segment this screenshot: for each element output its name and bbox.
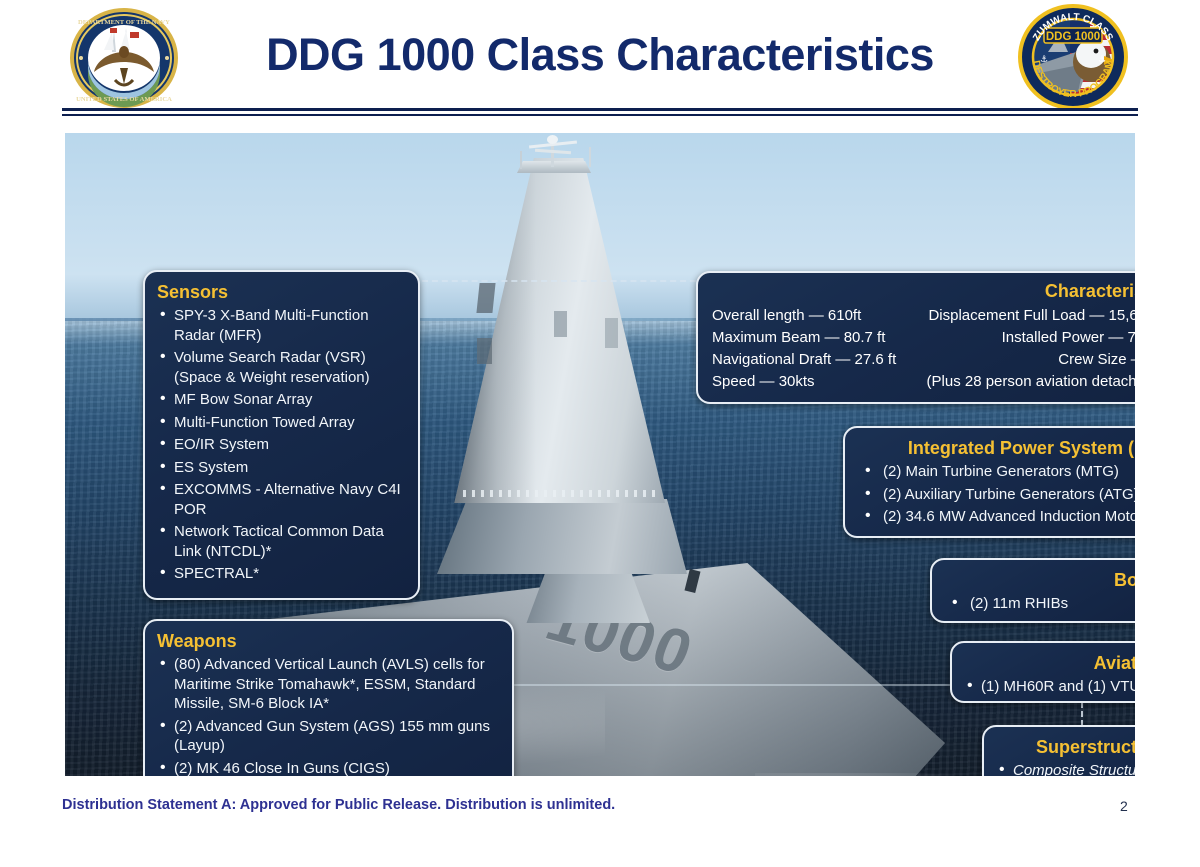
panel-superstructure-list: Composite Structure DDG 1000 / 1001 Stee… xyxy=(996,761,1135,776)
list-item: (2) Auxiliary Turbine Generators (ATG) xyxy=(857,485,1135,505)
characteristic-row: Crew Size — 178 xyxy=(927,349,1135,371)
panel-superstructure[interactable]: Superstructure Composite Structure DDG 1… xyxy=(982,725,1135,776)
deck-railing xyxy=(463,490,659,497)
zumwalt-class-destroyer-program-seal: DDG 1000 ZUMWALT CLASS DESTROYER PROGRAM… xyxy=(1018,4,1128,110)
svg-text:⚓: ⚓ xyxy=(1098,54,1106,64)
characteristic-row: Navigational Draft — 27.6 ft xyxy=(712,349,913,371)
list-item: (80) Advanced Vertical Launch (AVLS) cel… xyxy=(157,655,500,714)
list-item: ES System xyxy=(157,458,406,478)
list-item: (1) MH60R and (1) VTUAV xyxy=(964,677,1135,697)
antenna-1 xyxy=(589,147,591,167)
panel-boats-title: Boats xyxy=(944,568,1135,592)
deckhouse-panel-3 xyxy=(554,311,567,337)
characteristic-row: Overall length — 610ft xyxy=(712,305,913,327)
svg-text:⚓: ⚓ xyxy=(1040,54,1048,64)
list-item: (2) 11m RHIBs xyxy=(944,594,1135,614)
list-item: Multi-Function Towed Array xyxy=(157,413,406,433)
department-of-the-navy-seal: DEPARTMENT OF THE NAVY UNITED STATES OF … xyxy=(68,8,180,108)
panel-ips-list: (2) Main Turbine Generators (MTG) (2) Au… xyxy=(857,462,1135,527)
panel-boats-list: (2) 11m RHIBs xyxy=(944,594,1135,614)
characteristic-row: Installed Power — 78 MW xyxy=(927,327,1135,349)
list-item: (2) 34.6 MW Advanced Induction Motors xyxy=(857,507,1135,527)
header-divider-rule xyxy=(62,108,1138,116)
deckhouse-panel-2 xyxy=(477,338,492,364)
antenna-2 xyxy=(520,151,522,169)
list-item: SPECTRAL* xyxy=(157,564,406,584)
list-item: Volume Search Radar (VSR) (Space & Weigh… xyxy=(157,348,406,387)
characteristic-row: Maximum Beam — 80.7 ft xyxy=(712,327,913,349)
bow-wake xyxy=(755,773,1015,776)
slide-header: DEPARTMENT OF THE NAVY UNITED STATES OF … xyxy=(0,0,1200,116)
panel-weapons-list: (80) Advanced Vertical Launch (AVLS) cel… xyxy=(157,655,500,776)
distribution-statement: Distribution Statement A: Approved for P… xyxy=(62,797,615,813)
list-item: Composite Structure DDG 1000 / 1001 xyxy=(996,761,1135,776)
list-item: (2) Advanced Gun System (AGS) 155 mm gun… xyxy=(157,717,500,756)
panel-characteristics[interactable]: Characteristics Overall length — 610ft M… xyxy=(696,271,1135,404)
ship-photo-stage: 1000 Sensors SPY-3 X-Band Multi-Function… xyxy=(65,133,1135,776)
svg-text:DEPARTMENT OF THE NAVY: DEPARTMENT OF THE NAVY xyxy=(78,19,170,26)
panel-sensors[interactable]: Sensors SPY-3 X-Band Multi-Function Rada… xyxy=(143,270,420,600)
panel-aviation-list: (1) MH60R and (1) VTUAV xyxy=(964,677,1135,697)
page-number: 2 xyxy=(1120,798,1128,814)
mast-dome xyxy=(547,135,558,144)
panel-weapons-title: Weapons xyxy=(157,629,500,653)
characteristic-row: (Plus 28 person aviation detachment) xyxy=(927,371,1135,393)
panel-sensors-title: Sensors xyxy=(157,280,406,304)
list-item: Network Tactical Common Data Link (NTCDL… xyxy=(157,522,406,561)
panel-ips-title: Integrated Power System (IPS) xyxy=(857,436,1135,460)
panel-integrated-power-system[interactable]: Integrated Power System (IPS) (2) Main T… xyxy=(843,426,1135,538)
panel-aviation-title: Aviation xyxy=(964,651,1135,675)
page-title: DDG 1000 Class Characteristics xyxy=(190,16,1010,94)
list-item: EO/IR System xyxy=(157,435,406,455)
list-item: (2) Main Turbine Generators (MTG) xyxy=(857,462,1135,482)
panel-aviation[interactable]: Aviation (1) MH60R and (1) VTUAV xyxy=(950,641,1135,703)
list-item: (2) MK 46 Close In Guns (CIGS) xyxy=(157,759,500,777)
characteristic-row: Displacement Full Load — 15,612 LT xyxy=(927,305,1135,327)
characteristics-columns: Overall length — 610ft Maximum Beam — 80… xyxy=(712,305,1135,393)
list-item: MF Bow Sonar Array xyxy=(157,390,406,410)
list-item: SPY-3 X-Band Multi-Function Radar (MFR) xyxy=(157,306,406,345)
panel-sensors-list: SPY-3 X-Band Multi-Function Radar (MFR) … xyxy=(157,306,406,584)
list-item: EXCOMMS - Alternative Navy C4I POR xyxy=(157,480,406,519)
svg-text:UNITED STATES OF AMERICA: UNITED STATES OF AMERICA xyxy=(76,96,172,103)
panel-characteristics-title: Characteristics xyxy=(712,279,1135,303)
panel-weapons[interactable]: Weapons (80) Advanced Vertical Launch (A… xyxy=(143,619,514,776)
svg-text:DDG 1000: DDG 1000 xyxy=(1046,31,1100,43)
characteristic-row: Speed — 30kts xyxy=(712,371,913,393)
deckhouse-crown xyxy=(517,161,591,173)
characteristics-right-column: Displacement Full Load — 15,612 LT Insta… xyxy=(927,305,1135,393)
deckhouse-panel-1 xyxy=(476,283,495,313)
panel-superstructure-title: Superstructure xyxy=(996,735,1135,759)
deckhouse-panel-4 xyxy=(605,318,618,348)
forward-superstructure-step xyxy=(437,499,687,574)
superstructure-emphasis: Composite Structure xyxy=(1013,762,1135,776)
characteristics-left-column: Overall length — 610ft Maximum Beam — 80… xyxy=(712,305,913,393)
panel-boats[interactable]: Boats (2) 11m RHIBs xyxy=(930,558,1135,623)
